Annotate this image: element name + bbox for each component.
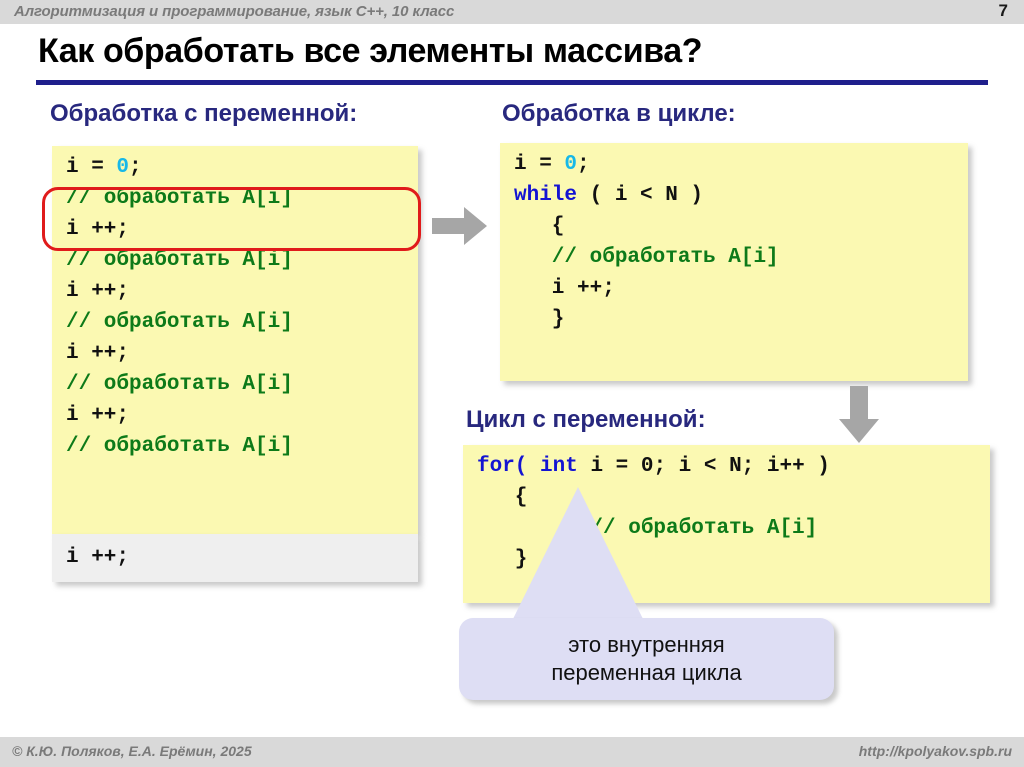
code-line-comment: // обработать A[i]: [66, 245, 418, 276]
section-heading-loop: Обработка в цикле:: [502, 100, 736, 128]
code-keyword: for(: [477, 455, 527, 478]
code-line-comment: // обработать A[i]: [66, 431, 418, 462]
code-line: i ++;: [66, 400, 418, 431]
arrow-down-icon: [838, 386, 880, 444]
header-bar: Алгоритмизация и программирование, язык …: [0, 0, 1024, 24]
code-text: ( i < N ): [577, 184, 703, 207]
callout-line-2: переменная цикла: [551, 660, 741, 685]
code-keyword-type: int: [527, 455, 577, 478]
code-text: i = 0; i < N; i++ ): [578, 455, 830, 478]
code-line: for( int i = 0; i < N; i++ ): [477, 451, 990, 482]
code-line-comment: // обработать A[i]: [66, 369, 418, 400]
code-line: {: [514, 211, 968, 242]
section-heading-variable: Обработка с переменной:: [50, 100, 357, 128]
code-line: i = 0;: [66, 152, 418, 183]
callout-pointer-triangle: [511, 487, 645, 623]
code-line: i ++;: [66, 542, 418, 573]
code-text: ;: [129, 156, 142, 179]
code-block-unrolled-tail: i ++;: [52, 534, 418, 582]
course-title: Алгоритмизация и программирование, язык …: [14, 3, 454, 20]
code-line: }: [514, 304, 968, 335]
page-number: 7: [999, 1, 1008, 21]
code-keyword: while: [514, 184, 577, 207]
code-block-unrolled: i = 0;// обработать A[i]i ++;// обработа…: [52, 146, 418, 534]
callout-text: это внутренняя переменная цикла: [551, 631, 741, 687]
section-heading-for-loop: Цикл с переменной:: [466, 406, 706, 434]
code-text: ;: [577, 153, 590, 176]
code-number: 0: [564, 153, 577, 176]
code-line: i ++;: [66, 214, 418, 245]
page-title: Как обработать все элементы массива?: [38, 32, 702, 71]
callout-line-1: это внутренняя: [568, 632, 724, 657]
arrow-right-icon: [432, 205, 488, 247]
callout-box: это внутренняя переменная цикла: [459, 618, 834, 700]
code-text: i =: [66, 156, 116, 179]
code-line: i ++;: [514, 273, 968, 304]
code-line: i ++;: [66, 338, 418, 369]
code-line-comment: // обработать A[i]: [66, 307, 418, 338]
footer-copyright: © К.Ю. Поляков, Е.А. Ерёмин, 2025: [12, 743, 252, 759]
code-text: i =: [514, 153, 564, 176]
code-number: 0: [116, 156, 129, 179]
code-line: i ++;: [66, 276, 418, 307]
code-line: i = 0;: [514, 149, 968, 180]
code-block-while: i = 0;while ( i < N ) { // обработать A[…: [500, 143, 968, 381]
title-underline-rule: [36, 80, 988, 85]
footer-bar: © К.Ю. Поляков, Е.А. Ерёмин, 2025 http:/…: [0, 737, 1024, 767]
code-line-comment: // обработать A[i]: [514, 242, 968, 273]
footer-url[interactable]: http://kpolyakov.spb.ru: [859, 743, 1012, 759]
code-line-comment: // обработать A[i]: [66, 183, 418, 214]
code-line: while ( i < N ): [514, 180, 968, 211]
